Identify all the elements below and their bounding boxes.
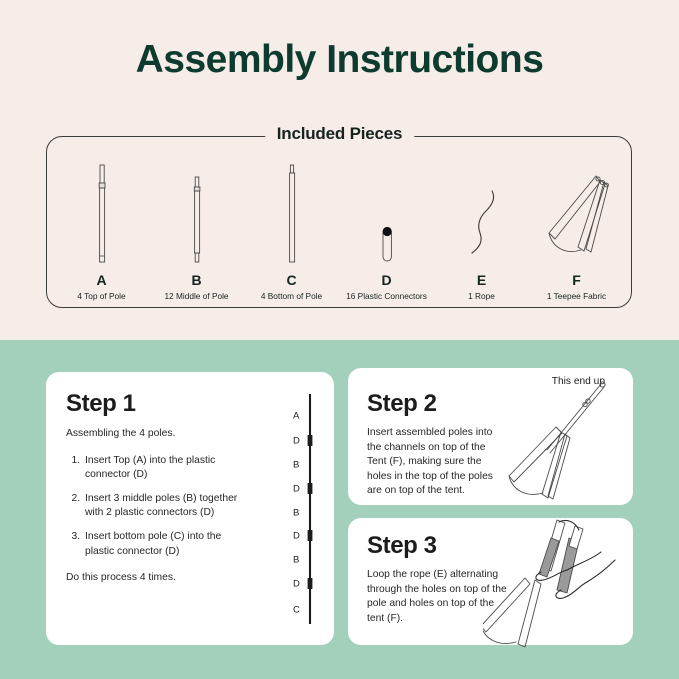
piece-a: A 4 Top of Pole: [54, 136, 149, 308]
pole-label: B: [293, 460, 299, 471]
piece-e: E 1 Rope: [434, 136, 529, 308]
plastic-connector-icon: [377, 159, 397, 267]
step-1-subtitle: Assembling the 4 poles.: [66, 427, 238, 442]
tent-with-pole-icon: [487, 372, 629, 502]
teepee-fabric-icon: [538, 159, 616, 267]
step-1-heading: Step 1: [66, 390, 238, 418]
step-2-card: Step 2 Insert assembled poles into the c…: [348, 368, 633, 505]
page-title: Assembly Instructions: [0, 38, 679, 82]
piece-f-description: 1 Teepee Fabric: [547, 292, 606, 300]
step-3-card: Step 3 Loop the rope (E) alternating thr…: [348, 518, 633, 645]
step-1-text: Step 1 Assembling the 4 poles. Insert To…: [66, 390, 238, 586]
pole-bottom-icon: [284, 159, 300, 267]
piece-f: F 1 Teepee Fabric: [529, 136, 624, 308]
pole-label: B: [293, 555, 299, 566]
piece-e-letter: E: [477, 273, 486, 287]
pole-label: B: [293, 508, 299, 519]
step-1-card: Step 1 Assembling the 4 poles. Insert To…: [46, 372, 334, 645]
step-1-instruction-list: Insert Top (A) into the plastic connecto…: [66, 454, 238, 560]
pole-label: A: [293, 411, 299, 422]
piece-a-description: 4 Top of Pole: [77, 292, 125, 300]
teepee-rope-loop-icon: [483, 516, 633, 648]
piece-e-description: 1 Rope: [468, 292, 495, 300]
step-3-illustration: [483, 516, 633, 648]
assembled-pole-labels: A D B D B D B D C: [293, 390, 311, 628]
step-2-text: Step 2 Insert assembled poles into the c…: [367, 390, 507, 499]
pole-label: D: [293, 531, 300, 542]
piece-c: C 4 Bottom of Pole: [244, 136, 339, 308]
assembled-pole-diagram: A D B D B D B D C: [251, 390, 317, 628]
step-1-closing-note: Do this process 4 times.: [66, 571, 238, 586]
piece-a-letter: A: [96, 273, 106, 287]
piece-f-letter: F: [572, 273, 581, 287]
piece-d-letter: D: [381, 273, 391, 287]
rope-icon: [465, 159, 499, 267]
assembly-instructions-page: Assembly Instructions Included Pieces A …: [0, 0, 679, 679]
piece-d: D 16 Plastic Connectors: [339, 136, 434, 308]
pole-label: D: [293, 484, 300, 495]
step-2-illustration: [487, 372, 629, 502]
piece-b-description: 12 Middle of Pole: [164, 292, 228, 300]
piece-b-letter: B: [191, 273, 201, 287]
step-2-heading: Step 2: [367, 390, 507, 418]
included-pieces-list: A 4 Top of Pole B 12 Middle of Pole: [46, 136, 632, 308]
pole-label: C: [293, 605, 300, 616]
step-1-instruction-item: Insert Top (A) into the plastic connecto…: [83, 454, 238, 483]
step-1-instruction-item: Insert bottom pole (C) into the plastic …: [83, 530, 238, 559]
piece-c-description: 4 Bottom of Pole: [261, 292, 322, 300]
pole-middle-icon: [189, 159, 205, 267]
step-1-instruction-item: Insert 3 middle poles (B) together with …: [83, 492, 238, 521]
pole-label: D: [293, 436, 300, 447]
piece-c-letter: C: [286, 273, 296, 287]
pole-label: D: [293, 579, 300, 590]
piece-d-description: 16 Plastic Connectors: [346, 292, 427, 300]
step-2-body: Insert assembled poles into the channels…: [367, 426, 507, 499]
piece-b: B 12 Middle of Pole: [149, 136, 244, 308]
pole-top-icon: [94, 159, 110, 267]
